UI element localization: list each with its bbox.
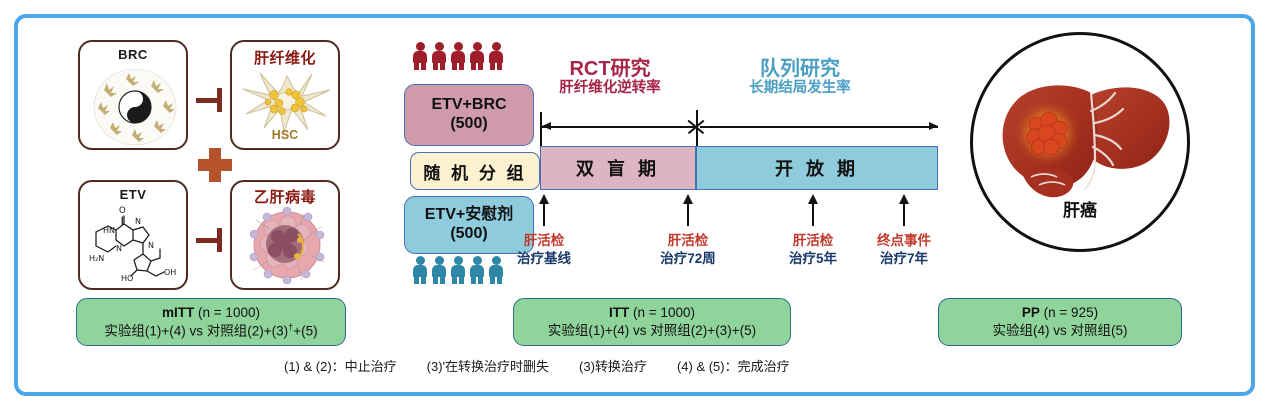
footnote-item-2: (3)'在转换治疗时删失	[427, 356, 549, 375]
heading-rct: RCT研究 肝纤维化逆转率	[520, 58, 700, 97]
timeline-span-arrows	[540, 100, 940, 146]
timepoint-week72-time: 治疗72周	[649, 247, 727, 267]
outcome-label: 肝癌	[973, 196, 1187, 221]
entecavir-structure-icon: O HN N N H₂N N OH HO	[86, 202, 184, 288]
arm-control-count: (500)	[450, 225, 487, 244]
svg-text:N: N	[135, 217, 141, 226]
timepoint-year5-time: 治疗5年	[774, 247, 852, 267]
randomization-box: 随 机 分 组	[410, 152, 540, 190]
outcome-circle: 肝癌	[970, 32, 1190, 252]
panel-fibrosis-sub: HSC	[232, 128, 338, 142]
person-icon	[431, 256, 447, 284]
pp-title: PP (n = 925)	[1022, 304, 1098, 322]
people-control-group	[412, 256, 504, 284]
panel-brc-title: BRC	[80, 47, 186, 62]
yin-yang-herbs-icon	[88, 62, 182, 148]
diagram-canvas: BRC 肝纤维化	[0, 0, 1269, 410]
footnote-item-1: (1) & (2)：中止治疗	[284, 356, 397, 375]
timepoint-baseline-event: 肝活检	[505, 229, 583, 249]
pp-comparison: 实验组(4) vs 对照组(5)	[993, 322, 1128, 340]
footnote-row: (1) & (2)：中止治疗 (3)'在转换治疗时删失 (3)转换治疗 (4) …	[284, 356, 790, 375]
panel-fibrosis: 肝纤维化 HSC	[230, 40, 340, 150]
svg-text:H₂N: H₂N	[89, 254, 104, 263]
person-icon	[488, 256, 504, 284]
analysis-set-itt: ITT (n = 1000) 实验组(1)+(4) vs 对照组(2)+(3)+…	[513, 298, 791, 346]
svg-text:N: N	[148, 241, 154, 250]
analysis-set-mitt: mITT (n = 1000) 实验组(1)+(4) vs 对照组(2)+(3)…	[76, 298, 346, 346]
person-icon	[469, 256, 485, 284]
people-treatment-group	[412, 42, 504, 70]
arm-treatment-name: ETV+BRC	[431, 96, 506, 115]
mitt-title: mITT (n = 1000)	[162, 304, 260, 322]
timepoint-year7-event: 终点事件	[865, 229, 943, 249]
timepoint-year7-time: 治疗7年	[865, 247, 943, 267]
hepatitis-b-virus-icon	[242, 204, 332, 286]
svg-text:O: O	[119, 206, 126, 216]
arm-treatment-box: ETV+BRC (500)	[404, 84, 534, 146]
person-icon	[450, 256, 466, 284]
panel-brc: BRC	[78, 40, 188, 150]
itt-title: ITT (n = 1000)	[609, 304, 695, 322]
heading-cohort: 队列研究 长期结局发生率	[700, 58, 900, 97]
footnote-item-4: (4) & (5)：完成治疗	[677, 356, 790, 375]
timepoint-baseline-time: 治疗基线	[505, 247, 583, 267]
inhibition-arrow-brc-icon	[196, 88, 222, 112]
timepoint-week72-event: 肝活检	[649, 229, 727, 249]
svg-text:OH: OH	[164, 268, 176, 277]
person-icon	[412, 42, 428, 70]
heading-rct-subtitle: 肝纤维化逆转率	[520, 80, 700, 96]
svg-text:HO: HO	[121, 274, 133, 283]
hepatic-stellate-cell-icon	[238, 64, 336, 134]
person-icon	[488, 42, 504, 70]
person-icon	[469, 42, 485, 70]
phase-open-label: 开 放 期	[696, 146, 938, 190]
arm-control-name: ETV+安慰剂	[425, 206, 513, 225]
plus-sign-icon	[198, 148, 232, 182]
person-icon	[412, 256, 428, 284]
inhibition-arrow-etv-icon	[196, 228, 222, 252]
itt-comparison: 实验组(1)+(4) vs 对照组(2)+(3)+(5)	[548, 322, 756, 340]
panel-etv-title: ETV	[80, 187, 186, 202]
person-icon	[450, 42, 466, 70]
svg-text:N: N	[116, 244, 122, 253]
heading-cohort-subtitle: 长期结局发生率	[700, 80, 900, 96]
arm-treatment-count: (500)	[450, 115, 487, 134]
panel-etv: ETV O HN N N H₂N N	[78, 180, 188, 290]
phase-double-blind: 双 盲 期	[540, 146, 696, 190]
timepoint-year5-event: 肝活检	[774, 229, 852, 249]
heading-cohort-title: 队列研究	[700, 58, 900, 80]
heading-rct-title: RCT研究	[520, 58, 700, 80]
panel-hbv: 乙肝病毒	[230, 180, 340, 290]
person-icon	[431, 42, 447, 70]
analysis-set-pp: PP (n = 925) 实验组(4) vs 对照组(5)	[938, 298, 1182, 346]
footnote-item-3: (3)转换治疗	[579, 356, 647, 375]
liver-with-tumor-icon	[991, 77, 1177, 207]
mitt-comparison: 实验组(1)+(4) vs 对照组(2)+(3)†+(5)	[104, 322, 317, 340]
